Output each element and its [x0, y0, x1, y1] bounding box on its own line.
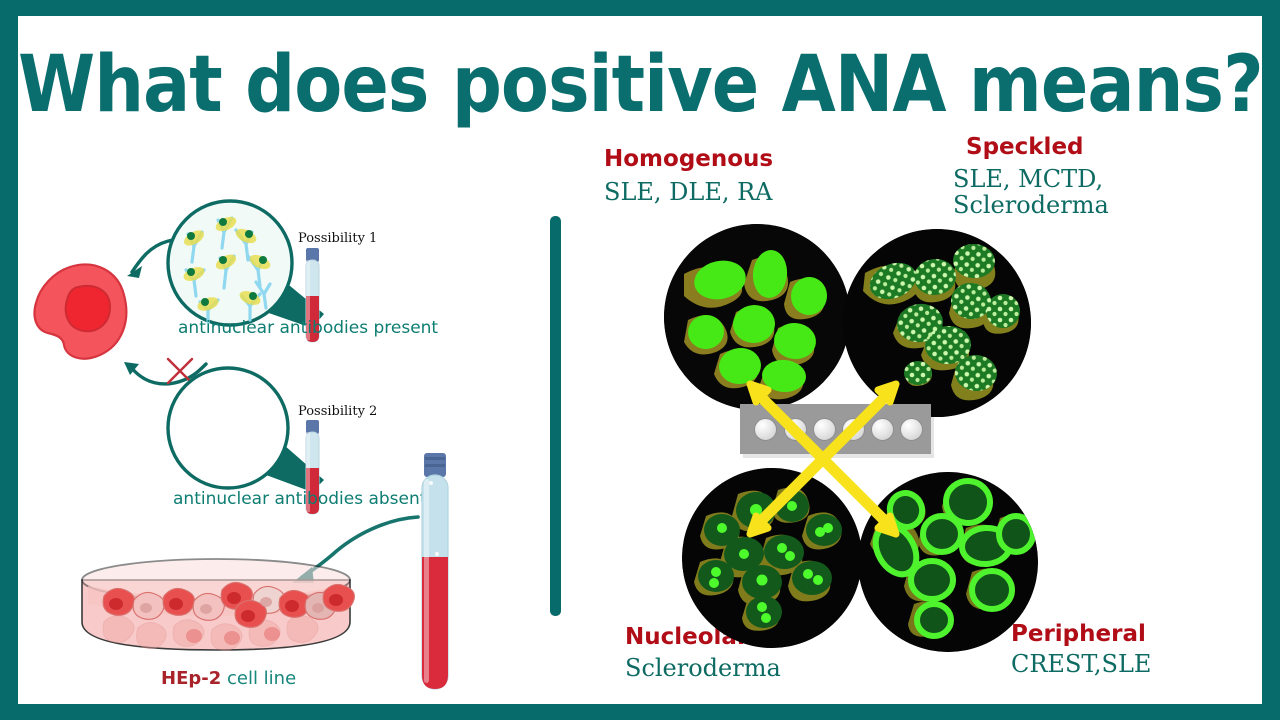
possibility-1-caption: antinuclear antibodies present: [178, 318, 438, 338]
pattern-label-peripheral: Peripheral: [1011, 621, 1146, 647]
pattern-diseases-peripheral: CREST,SLE: [1011, 651, 1151, 678]
double-headed-arrow-icon-b: [708, 346, 958, 596]
possibility-2-caption: antinuclear antibodies absent: [173, 489, 426, 509]
possibility-2-badge: Possibility 2: [298, 404, 377, 419]
poster-canvas: What does positive ANA means?: [18, 16, 1262, 704]
page-title: What does positive ANA means?: [18, 38, 1262, 130]
pattern-diseases-nucleolar: Scleroderma: [625, 655, 781, 682]
hep2-label-red: HEp-2: [161, 668, 221, 689]
section-divider: [550, 216, 561, 616]
pattern-diseases-speckled-line1: SLE, MCTD,: [953, 166, 1103, 193]
pattern-label-speckled: Speckled: [966, 134, 1084, 160]
possibility-1-badge: Possibility 1: [298, 231, 377, 246]
hep2-label-teal: cell line: [227, 668, 296, 689]
pattern-diseases-speckled-line2: Scleroderma: [953, 192, 1109, 219]
pattern-label-homogenous: Homogenous: [604, 146, 773, 172]
petri-dish-icon: [76, 556, 356, 666]
pattern-diseases-homogenous: SLE, DLE, RA: [604, 179, 773, 206]
hep2-cell-line-label: HEp-2 cell line: [161, 668, 296, 689]
poster-frame: What does positive ANA means?: [0, 0, 1280, 720]
